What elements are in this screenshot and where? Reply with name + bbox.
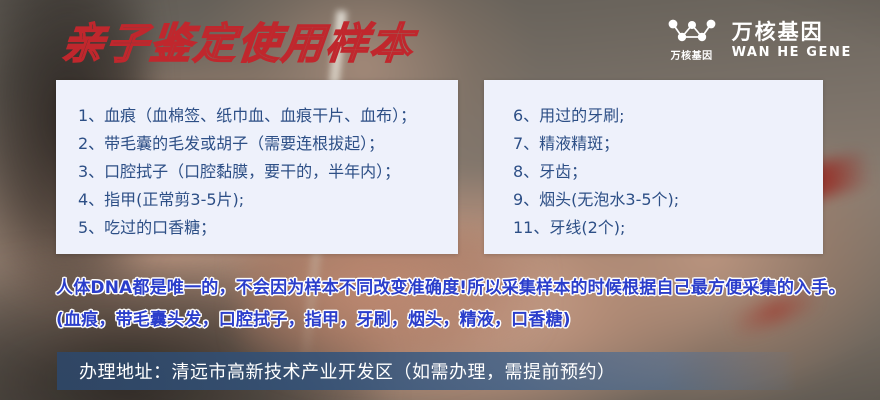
list-item: 8、牙齿； <box>484 158 823 186</box>
list-item: 5、吃过的口香糖； <box>56 214 458 242</box>
address-bar: 办理地址：清远市高新技术产业开发区（如需办理，需提前预约） <box>57 352 797 390</box>
sample-list-left: 1、血痕（血棉签、纸巾血、血痕干片、血布）； 2、带毛囊的毛发或胡子（需要连根拔… <box>56 80 458 242</box>
list-item: 7、精液精斑； <box>484 130 823 158</box>
promo-poster: 亲子鉴定使用样本 <box>0 0 880 400</box>
brand-logo: 万核基因 万核基因 WAN HE GENE <box>666 18 852 62</box>
logo-mark-caption: 万核基因 <box>671 47 713 62</box>
list-item: 9、烟头(无泡水3-5个); <box>484 186 823 214</box>
list-item: 2、带毛囊的毛发或胡子（需要连根拔起）； <box>56 130 458 158</box>
page-title: 亲子鉴定使用样本 <box>59 19 416 69</box>
list-item: 6、用过的牙刷; <box>484 102 823 130</box>
sample-list-panel-right: 6、用过的牙刷; 7、精液精斑； 8、牙齿； 9、烟头(无泡水3-5个); 11… <box>484 80 823 254</box>
logo-brand-cn: 万核基因 <box>732 20 852 44</box>
address-text: 办理地址：清远市高新技术产业开发区（如需办理，需提前预约） <box>57 358 616 384</box>
logo-mark: 万核基因 <box>666 18 718 62</box>
logo-wordmark: 万核基因 WAN HE GENE <box>732 20 852 60</box>
list-item: 4、指甲(正常剪3-5片); <box>56 186 458 214</box>
list-item: 1、血痕（血棉签、纸巾血、血痕干片、血布）； <box>56 102 458 130</box>
dna-note-paragraph: 人体DNA都是唯一的，不会因为样本不同改变准确度!所以采集样本的时候根据自己最方… <box>56 272 856 336</box>
dna-molecule-icon <box>666 18 718 44</box>
list-item: 11、牙线(2个); <box>484 214 823 242</box>
logo-brand-en: WAN HE GENE <box>732 46 852 60</box>
list-item: 3、口腔拭子（口腔黏膜，要干的，半年内）； <box>56 158 458 186</box>
sample-list-right: 6、用过的牙刷; 7、精液精斑； 8、牙齿； 9、烟头(无泡水3-5个); 11… <box>484 80 823 242</box>
sample-list-panel-left: 1、血痕（血棉签、纸巾血、血痕干片、血布）； 2、带毛囊的毛发或胡子（需要连根拔… <box>56 80 458 254</box>
